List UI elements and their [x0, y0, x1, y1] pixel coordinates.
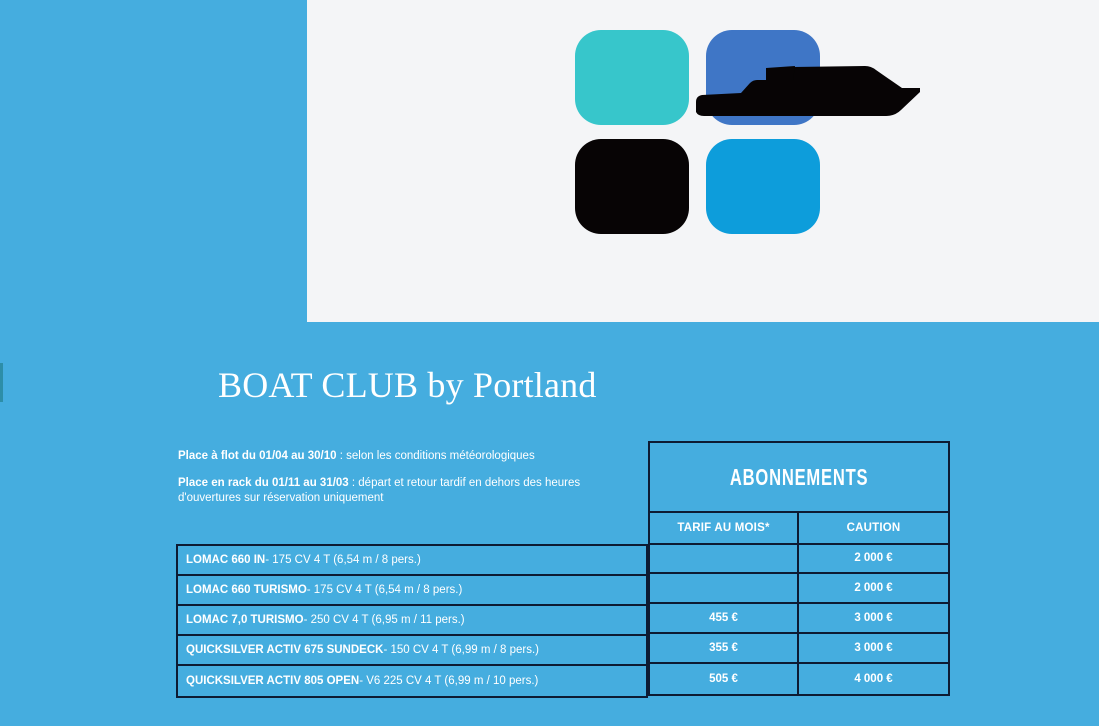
- abonnements-title: ABONNEMENTS: [730, 464, 868, 491]
- table-row: 355 € 3 000 €: [650, 634, 948, 664]
- model-name: LOMAC 7,0 TURISMO: [186, 614, 304, 626]
- boat-silhouette-icon: [696, 58, 920, 131]
- table-row: 2 000 €: [650, 544, 948, 574]
- table-row: 455 € 3 000 €: [650, 604, 948, 634]
- table-row: LOMAC 7,0 TURISMO - 250 CV 4 T (6,95 m /…: [178, 606, 646, 636]
- note-line-place-en-rack: Place en rack du 01/11 au 31/03 : départ…: [178, 476, 618, 506]
- models-table: LOMAC 660 IN - 175 CV 4 T (6,54 m / 8 pe…: [176, 544, 648, 698]
- cell-tarif: 455 €: [650, 604, 799, 632]
- model-spec: - 250 CV 4 T (6,95 m / 11 pers.): [304, 614, 465, 626]
- price-table-column-headers: TARIF AU MOIS* CAUTION: [648, 513, 950, 545]
- prices-table: 2 000 € 2 000 € 455 € 3 000 € 355 € 3 00…: [648, 544, 950, 696]
- column-header-caution: CAUTION: [799, 513, 948, 543]
- page-title: BOAT CLUB by Portland: [218, 363, 597, 407]
- cell-tarif: 505 €: [650, 664, 799, 694]
- cell-caution: 2 000 €: [799, 544, 948, 572]
- model-spec: - 150 CV 4 T (6,99 m / 8 pers.): [383, 644, 539, 656]
- model-spec: - 175 CV 4 T (6,54 m / 8 pers.): [307, 584, 463, 596]
- note-detail-text: : selon les conditions météorologiques: [337, 450, 535, 462]
- table-row: 2 000 €: [650, 574, 948, 604]
- table-row: LOMAC 660 IN - 175 CV 4 T (6,54 m / 8 pe…: [178, 546, 646, 576]
- note-bold-label: Place en rack du 01/11 au 31/03: [178, 477, 349, 489]
- page-root: BOAT CLUB by Portland Place à flot du 01…: [0, 0, 1099, 726]
- logo-tile-teal: [575, 30, 689, 125]
- table-row: LOMAC 660 TURISMO - 175 CV 4 T (6,54 m /…: [178, 576, 646, 606]
- cell-tarif: [650, 574, 799, 602]
- abonnements-header-box: ABONNEMENTS: [648, 441, 950, 513]
- cell-caution: 3 000 €: [799, 634, 948, 662]
- model-name: LOMAC 660 TURISMO: [186, 584, 307, 596]
- cell-tarif: [650, 544, 799, 572]
- model-name: LOMAC 660 IN: [186, 554, 265, 566]
- model-spec: - V6 225 CV 4 T (6,99 m / 10 pers.): [359, 675, 538, 687]
- cell-tarif: 355 €: [650, 634, 799, 662]
- model-name: QUICKSILVER ACTIV 675 SUNDECK: [186, 644, 383, 656]
- cell-caution: 3 000 €: [799, 604, 948, 632]
- note-line-place-a-flot: Place à flot du 01/04 au 30/10 : selon l…: [178, 449, 618, 464]
- boat-club-logo: [575, 22, 920, 234]
- table-row: QUICKSILVER ACTIV 675 SUNDECK - 150 CV 4…: [178, 636, 646, 666]
- left-edge-sliver: [0, 363, 3, 402]
- model-name: QUICKSILVER ACTIV 805 OPEN: [186, 675, 359, 687]
- table-row: QUICKSILVER ACTIV 805 OPEN - V6 225 CV 4…: [178, 666, 646, 696]
- table-row: 505 € 4 000 €: [650, 664, 948, 694]
- cell-caution: 2 000 €: [799, 574, 948, 602]
- note-bold-label: Place à flot du 01/04 au 30/10: [178, 450, 337, 462]
- logo-tile-black: [575, 139, 689, 234]
- notes-block: Place à flot du 01/04 au 30/10 : selon l…: [178, 449, 618, 506]
- cell-caution: 4 000 €: [799, 664, 948, 694]
- model-spec: - 175 CV 4 T (6,54 m / 8 pers.): [265, 554, 421, 566]
- column-header-tarif: TARIF AU MOIS*: [650, 513, 799, 543]
- hero-panel: [307, 0, 1099, 322]
- logo-tile-cyan: [706, 139, 820, 234]
